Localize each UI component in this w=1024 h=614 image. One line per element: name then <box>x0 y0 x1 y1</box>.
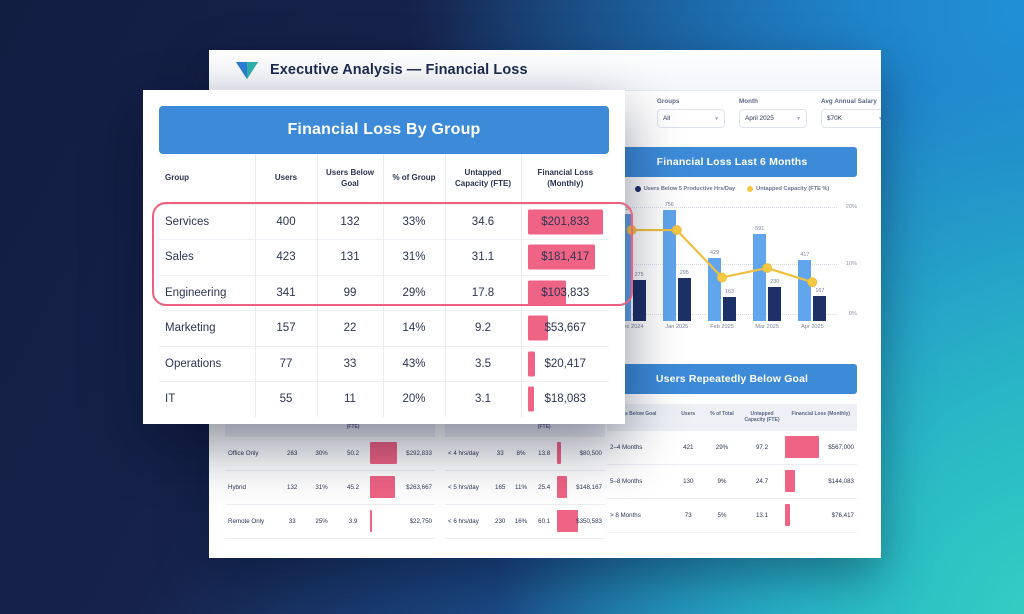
financial-loss-by-group-card: Financial Loss By Group Group Users User… <box>143 90 625 424</box>
cell-loss: $350,583 <box>557 518 605 525</box>
table-row[interactable]: > 8 Months735%13.1$76,417 <box>607 499 857 533</box>
table-row[interactable]: IT551120%3.1$18,083 <box>159 382 609 417</box>
cell-users: 341 <box>255 275 317 311</box>
cell-loss: $263,667 <box>370 484 435 491</box>
cell-fte: 3.9 <box>336 518 370 525</box>
cell-fte: 24.7 <box>740 478 785 485</box>
cell-fte: 97.2 <box>740 444 785 451</box>
filter-salary-label: Avg Annual Salary <box>821 98 881 105</box>
work-location-table: Users% of TotalUntapped Capacity (FTE)Fi… <box>225 404 435 539</box>
table-row[interactable]: 5–8 Months1309%24.7$144,083 <box>607 465 857 499</box>
cell-users: 400 <box>255 204 317 240</box>
col-users: Users <box>255 154 317 204</box>
cell-pct: 16% <box>511 518 532 525</box>
cell-pct: 14% <box>383 311 445 347</box>
filter-salary[interactable]: Avg Annual Salary $70K ▼ <box>821 98 881 128</box>
legend-swatch-yellow-icon <box>747 186 753 192</box>
financial-loss-table: Group Users Users Below Goal % of Group … <box>159 154 609 417</box>
cell-users: 130 <box>672 478 705 485</box>
cell-fte: 31.1 <box>445 240 521 276</box>
filter-groups[interactable]: Groups All ▼ <box>657 98 725 128</box>
mini-col-header: Untapped Capacity (FTE) <box>740 404 785 431</box>
cell-below-goal: 33 <box>317 346 383 382</box>
cell-label: < 4 hrs/day <box>445 450 490 457</box>
cell-below-goal: 132 <box>317 204 383 240</box>
col-group: Group <box>159 154 255 204</box>
cell-fte: 9.2 <box>445 311 521 347</box>
table-row[interactable]: < 6 hrs/day23016%60.1$350,583 <box>445 505 605 539</box>
cell-pct: 25% <box>307 518 336 525</box>
cell-group: Marketing <box>159 311 255 347</box>
cell-fte: 13.1 <box>740 512 785 519</box>
float-card-title: Financial Loss By Group <box>159 106 609 154</box>
cell-users: 230 <box>490 518 511 525</box>
col-loss: Financial Loss (Monthly) <box>521 154 609 204</box>
cell-pct: 30% <box>307 450 336 457</box>
cell-pct: 8% <box>511 450 532 457</box>
table-row[interactable]: 2–4 Months42129%97.2$567,000 <box>607 431 857 465</box>
cell-loss: $201,833 <box>521 204 609 240</box>
filter-salary-select[interactable]: $70K ▼ <box>821 109 881 128</box>
legend-label-0: Users Below 5 Productive Hrs/Day <box>644 186 735 192</box>
table-row[interactable]: Hybrid13231%45.2$263,667 <box>225 471 435 505</box>
cell-below-goal: 22 <box>317 311 383 347</box>
triangle-logo-icon <box>234 59 260 81</box>
cell-pct: 31% <box>307 484 336 491</box>
cell-label: > 8 Months <box>607 512 672 519</box>
cell-loss: $181,417 <box>521 240 609 276</box>
legend-item-below-goal: Users Below 5 Productive Hrs/Day <box>635 186 735 192</box>
col-untapped: Untapped Capacity (FTE) <box>445 154 521 204</box>
mini-col-header: % of Total <box>705 404 740 431</box>
cell-label: Remote Only <box>225 518 278 525</box>
chart-title: Financial Loss Last 6 Months <box>607 147 857 177</box>
cell-pct: 9% <box>705 478 740 485</box>
cell-group: IT <box>159 382 255 417</box>
filter-bar: Groups All ▼ Month April 2025 ▼ Avg Annu… <box>657 98 881 128</box>
legend-swatch-navy-icon <box>635 186 641 192</box>
table-row[interactable]: Marketing1572214%9.2$53,667 <box>159 311 609 347</box>
cell-loss: $20,417 <box>521 346 609 382</box>
filter-month-label: Month <box>739 98 807 105</box>
col-pct-group: % of Group <box>383 154 445 204</box>
filter-month-select[interactable]: April 2025 ▼ <box>739 109 807 128</box>
cell-users: 263 <box>278 450 307 457</box>
cell-pct: 5% <box>705 512 740 519</box>
cell-users: 132 <box>278 484 307 491</box>
legend-label-1: Untapped Capacity (FTE %) <box>756 186 829 192</box>
cell-loss: $292,833 <box>370 450 435 457</box>
cell-label: Hybrid <box>225 484 278 491</box>
cell-group: Services <box>159 204 255 240</box>
cell-loss: $144,083 <box>785 478 858 485</box>
filter-salary-value: $70K <box>827 115 842 122</box>
filter-groups-select[interactable]: All ▼ <box>657 109 725 128</box>
cell-fte: 50.2 <box>336 450 370 457</box>
cell-fte: 17.8 <box>445 275 521 311</box>
cell-users: 421 <box>672 444 705 451</box>
repeat-table: Months Below GoalUsers% of TotalUntapped… <box>607 404 857 533</box>
y-tick-10: 10% <box>846 261 857 267</box>
table-row[interactable]: Office Only26330%50.2$292,833 <box>225 437 435 471</box>
table-row[interactable]: Sales42313131%31.1$181,417 <box>159 240 609 276</box>
cell-loss: $567,000 <box>785 444 858 451</box>
cell-below-goal: 11 <box>317 382 383 417</box>
cell-fte: 25.4 <box>531 484 557 491</box>
cell-below-goal: 131 <box>317 240 383 276</box>
y-tick-0: 0% <box>849 311 857 317</box>
filter-month[interactable]: Month April 2025 ▼ <box>739 98 807 128</box>
cell-users: 33 <box>278 518 307 525</box>
cell-label: < 6 hrs/day <box>445 518 490 525</box>
table-row[interactable]: < 4 hrs/day338%13.8$80,500 <box>445 437 605 471</box>
cell-label: Office Only <box>225 450 278 457</box>
cell-label: 2–4 Months <box>607 444 672 451</box>
dashboard-header: Executive Analysis — Financial Loss <box>209 50 881 91</box>
y-tick-20: 20% <box>846 204 857 210</box>
cell-pct: 20% <box>383 382 445 417</box>
chevron-down-icon: ▼ <box>796 116 801 122</box>
table-row[interactable]: Services40013233%34.6$201,833 <box>159 204 609 240</box>
cell-users: 423 <box>255 240 317 276</box>
cell-group: Engineering <box>159 275 255 311</box>
cell-loss: $22,750 <box>370 518 435 525</box>
cell-pct: 11% <box>511 484 532 491</box>
cell-fte: 13.8 <box>531 450 557 457</box>
cell-users: 165 <box>490 484 511 491</box>
table-row[interactable]: < 5 hrs/day16511%25.4$148,167 <box>445 471 605 505</box>
mini-table-header: Months Below GoalUsers% of TotalUntapped… <box>607 404 857 431</box>
repeat-card-title: Users Repeatedly Below Goal <box>607 364 857 394</box>
cell-group: Operations <box>159 346 255 382</box>
chevron-down-icon: ▼ <box>714 116 719 122</box>
cell-pct: 29% <box>705 444 740 451</box>
cell-pct: 43% <box>383 346 445 382</box>
legend-item-untapped: Untapped Capacity (FTE %) <box>747 186 829 192</box>
chart-card: Financial Loss Last 6 Months Users Below… <box>607 147 857 330</box>
cell-fte: 60.1 <box>531 518 557 525</box>
chevron-down-icon: ▼ <box>878 116 881 122</box>
cell-group: Sales <box>159 240 255 276</box>
cell-loss: $53,667 <box>521 311 609 347</box>
cell-loss: $18,083 <box>521 382 609 417</box>
cell-label: 5–8 Months <box>607 478 672 485</box>
table-row[interactable]: Engineering3419929%17.8$103,833 <box>159 275 609 311</box>
hours-table: Users% of TotalUntapped Capacity (FTE)Fi… <box>445 404 605 539</box>
cell-below-goal: 99 <box>317 275 383 311</box>
chart-line-series <box>609 201 835 333</box>
cell-fte: 45.2 <box>336 484 370 491</box>
cell-loss: $103,833 <box>521 275 609 311</box>
table-header-row: Group Users Users Below Goal % of Group … <box>159 154 609 204</box>
cell-pct: 33% <box>383 204 445 240</box>
filter-groups-value: All <box>663 115 670 122</box>
cell-users: 55 <box>255 382 317 417</box>
cell-label: < 5 hrs/day <box>445 484 490 491</box>
cell-pct: 31% <box>383 240 445 276</box>
filter-groups-label: Groups <box>657 98 725 105</box>
cell-users: 77 <box>255 346 317 382</box>
cell-users: 33 <box>490 450 511 457</box>
mini-col-header: Financial Loss (Monthly) <box>785 404 858 431</box>
cell-fte: 3.1 <box>445 382 521 417</box>
cell-loss: $80,500 <box>557 450 605 457</box>
filter-month-value: April 2025 <box>745 115 774 122</box>
cell-loss: $148,167 <box>557 484 605 491</box>
cell-loss: $76,417 <box>785 512 858 519</box>
table-row[interactable]: Operations773343%3.5$20,417 <box>159 346 609 382</box>
table-row[interactable]: Remote Only3325%3.9$22,750 <box>225 505 435 539</box>
chart-legend: Users Below 5 Productive Hrs/Day Untappe… <box>607 186 857 192</box>
repeat-card: Users Repeatedly Below Goal <box>607 364 857 394</box>
col-below-goal: Users Below Goal <box>317 154 383 204</box>
cell-fte: 3.5 <box>445 346 521 382</box>
cell-fte: 34.6 <box>445 204 521 240</box>
chart-plot-area: 20% 10% 0% 72327575629542916359123041716… <box>607 201 857 321</box>
cell-users: 157 <box>255 311 317 347</box>
cell-pct: 29% <box>383 275 445 311</box>
page-title: Executive Analysis — Financial Loss <box>270 62 528 78</box>
mini-col-header: Users <box>672 404 705 431</box>
cell-users: 73 <box>672 512 705 519</box>
